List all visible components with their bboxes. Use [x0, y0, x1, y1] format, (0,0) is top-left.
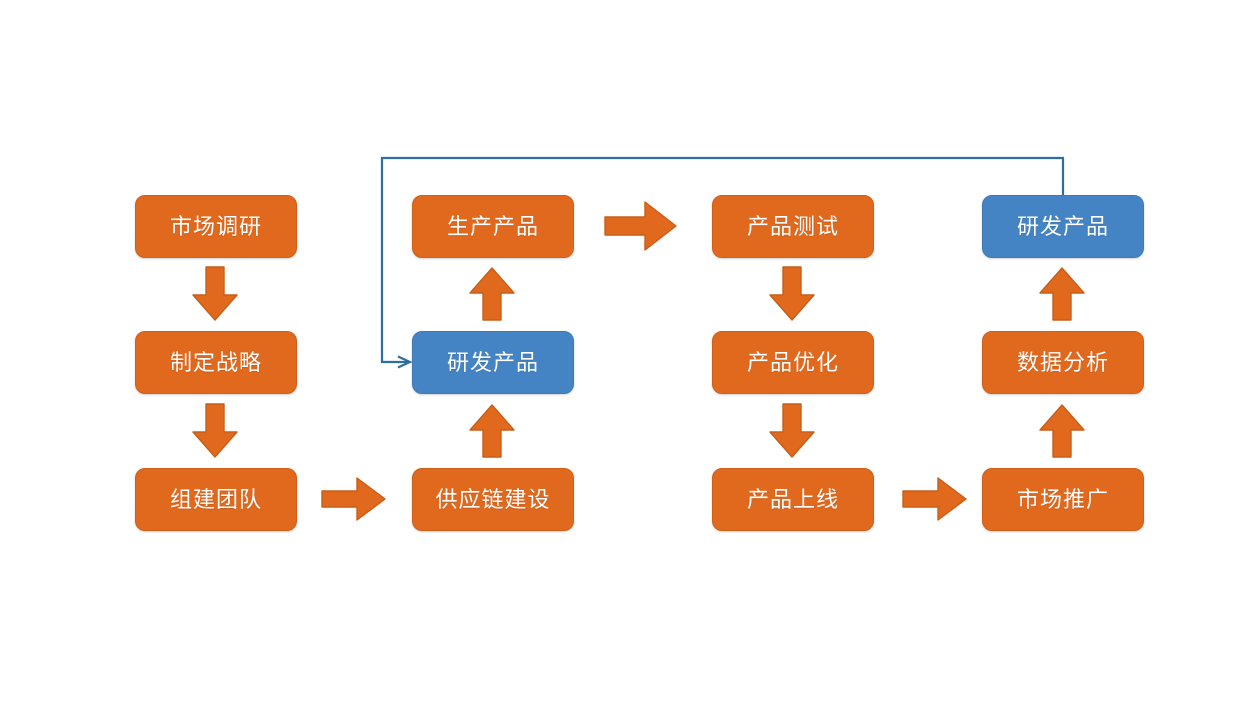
arrow-up-c4r2-to-c4r1: [1039, 267, 1085, 321]
right-arrow-icon: [903, 478, 966, 520]
node-label: 产品优化: [747, 352, 839, 374]
arrow-up-c2r3-to-c2r2: [469, 404, 515, 458]
node-label: 产品上线: [747, 489, 839, 511]
node-label: 生产产品: [447, 216, 539, 238]
node-zhiding-zhanlue[interactable]: 制定战略: [135, 331, 297, 394]
down-arrow-icon: [193, 404, 237, 457]
arrow-right-c1r3-to-c2r3: [322, 477, 386, 522]
up-arrow-icon: [470, 268, 514, 320]
node-gongyinglian-jianshe[interactable]: 供应链建设: [412, 468, 574, 531]
node-label: 产品测试: [747, 216, 839, 238]
up-arrow-icon: [1040, 405, 1084, 457]
arrow-up-c4r3-to-c4r2: [1039, 404, 1085, 458]
node-shuju-fenxi[interactable]: 数据分析: [982, 331, 1144, 394]
node-label: 研发产品: [447, 352, 539, 374]
up-arrow-icon: [470, 405, 514, 457]
down-arrow-icon: [770, 267, 814, 320]
node-zujian-tuandui[interactable]: 组建团队: [135, 468, 297, 531]
node-label: 组建团队: [170, 489, 262, 511]
arrow-up-c2r2-to-c2r1: [469, 267, 515, 321]
node-yanfa-chanpin-a[interactable]: 研发产品: [412, 331, 574, 394]
arrow-down-c1r1-to-c1r2: [192, 267, 238, 321]
node-label: 数据分析: [1017, 352, 1109, 374]
right-arrow-icon: [322, 478, 385, 520]
arrow-down-c3r1-to-c3r2: [769, 267, 815, 321]
right-arrow-icon: [605, 202, 676, 250]
node-yanfa-chanpin-b[interactable]: 研发产品: [982, 195, 1144, 258]
node-label: 研发产品: [1017, 216, 1109, 238]
node-shengchan-chanpin[interactable]: 生产产品: [412, 195, 574, 258]
feedback-connector-arrowhead-icon: [398, 357, 410, 368]
node-chanpin-ceshi[interactable]: 产品测试: [712, 195, 874, 258]
arrow-right-c3r3-to-c4r3: [903, 477, 967, 522]
node-label: 供应链建设: [435, 489, 550, 511]
up-arrow-icon: [1040, 268, 1084, 320]
node-label: 制定战略: [170, 352, 262, 374]
arrow-right-c2r1-to-c3r1: [605, 201, 677, 252]
node-label: 市场调研: [170, 216, 262, 238]
flowchart-canvas: 市场调研 制定战略 组建团队 生产产品 研发产品: [0, 0, 1259, 708]
arrow-down-c3r2-to-c3r3: [769, 404, 815, 458]
node-chanpin-youhua[interactable]: 产品优化: [712, 331, 874, 394]
down-arrow-icon: [770, 404, 814, 457]
node-shichang-diaoyan[interactable]: 市场调研: [135, 195, 297, 258]
arrow-down-c1r2-to-c1r3: [192, 404, 238, 458]
node-shichang-tuiguang[interactable]: 市场推广: [982, 468, 1144, 531]
node-label: 市场推广: [1017, 489, 1109, 511]
down-arrow-icon: [193, 267, 237, 320]
node-chanpin-shangxian[interactable]: 产品上线: [712, 468, 874, 531]
